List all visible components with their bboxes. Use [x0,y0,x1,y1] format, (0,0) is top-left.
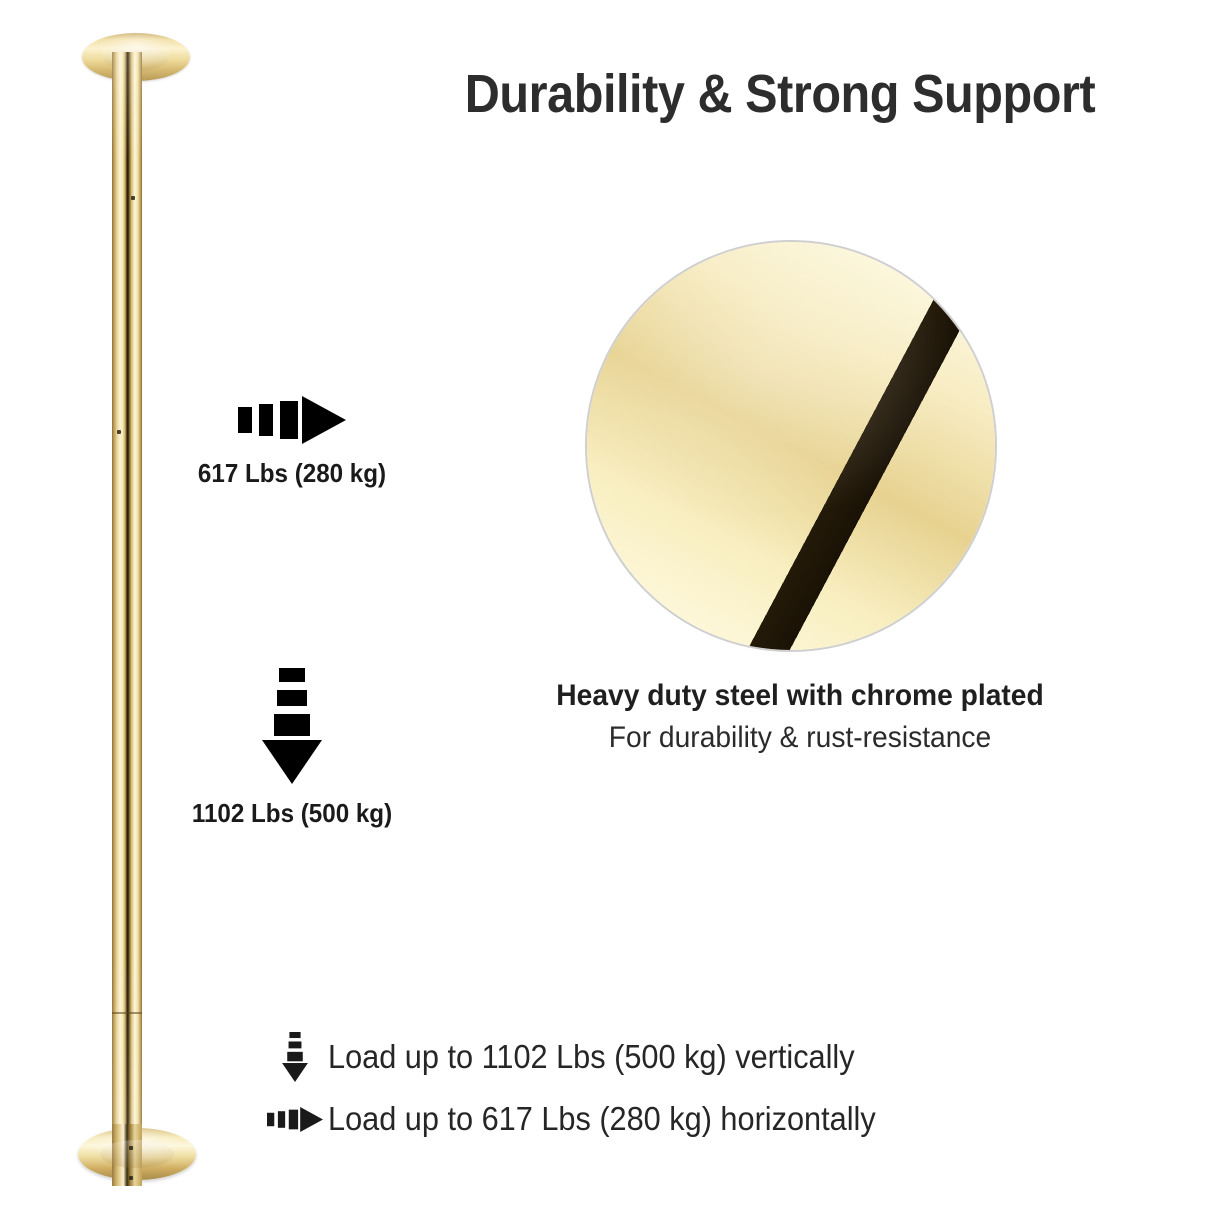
pole-screw-mark [117,430,121,434]
arrow-down-icon [262,668,322,784]
list-item-label: Load up to 1102 Lbs (500 kg) vertically [328,1037,855,1077]
inset-caption-subtitle: For durability & rust-resistance [518,716,1082,760]
pole-joint-seam [112,1012,142,1014]
spec-vertical-load: 1102 Lbs (500 kg) [132,668,452,828]
load-capacity-list: Load up to 1102 Lbs (500 kg) vertically … [262,1026,1062,1150]
spec-vertical-label: 1102 Lbs (500 kg) [143,798,441,828]
arrow-right-icon [238,396,346,444]
bullet-icon-wrap [262,1032,328,1082]
floor-base-inner-ring [100,1140,174,1168]
base-screw-mark [129,1146,133,1150]
arrow-right-icon [267,1107,323,1132]
bullet-icon-wrap [262,1107,328,1132]
product-pole-image [0,0,260,1214]
page-title: Durability & Strong Support [420,64,1140,124]
pole-screw-mark [131,196,135,200]
spec-horizontal-load: 617 Lbs (280 kg) [142,396,442,488]
list-item: Load up to 617 Lbs (280 kg) horizontally [262,1088,1062,1150]
magnified-detail-circle [585,240,997,652]
list-item-label: Load up to 617 Lbs (280 kg) horizontally [328,1099,876,1139]
inset-caption: Heavy duty steel with chrome plated For … [500,676,1100,760]
base-screw-mark [129,1176,133,1180]
magnified-pole-surface [585,240,997,652]
inset-caption-title: Heavy duty steel with chrome plated [518,676,1082,716]
arrow-down-icon [282,1032,308,1082]
list-item: Load up to 1102 Lbs (500 kg) vertically [262,1026,1062,1088]
spec-horizontal-label: 617 Lbs (280 kg) [153,458,432,488]
pole-shaft [112,52,142,1152]
